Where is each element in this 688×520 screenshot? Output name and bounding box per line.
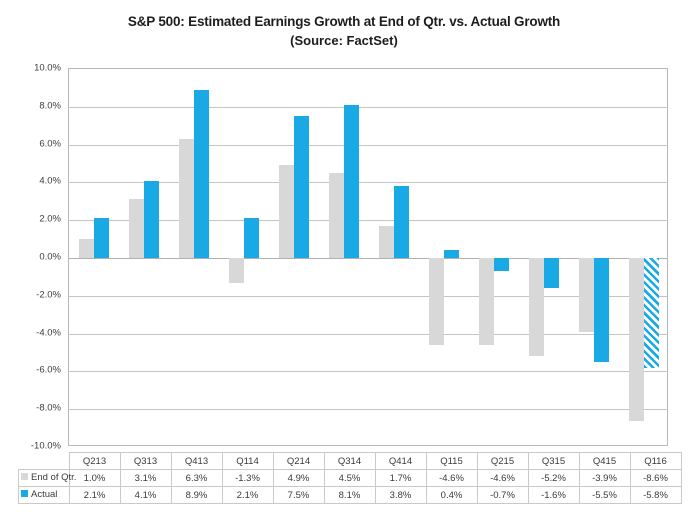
table-cell: 2.1% <box>69 487 120 504</box>
y-axis-tick-label: -2.0% <box>36 289 61 300</box>
table-body: End of Qtr.1.0%3.1%6.3%-1.3%4.9%4.5%1.7%… <box>19 470 682 504</box>
bar-cluster <box>369 69 419 445</box>
y-axis-tick-label: 0.0% <box>39 252 61 263</box>
table-corner <box>19 453 70 470</box>
table-row-header: End of Qtr. <box>19 470 70 487</box>
bar-actual-Q115 <box>444 250 459 258</box>
bar-cluster <box>569 69 619 445</box>
y-axis-tick-label: 4.0% <box>39 176 61 187</box>
bar-end-of-qtr-Q215 <box>479 258 494 345</box>
bar-end-of-qtr-Q314 <box>329 173 344 258</box>
table-cell: 8.1% <box>324 487 375 504</box>
table-category-header: Q413 <box>171 453 222 470</box>
chart-title: S&P 500: Estimated Earnings Growth at En… <box>0 14 688 29</box>
table-category-header: Q115 <box>426 453 477 470</box>
bar-actual-Q214 <box>294 116 309 258</box>
bar-end-of-qtr-Q413 <box>179 139 194 258</box>
bar-actual-Q314 <box>344 105 359 258</box>
table-cell: -1.6% <box>528 487 579 504</box>
table-category-header: Q116 <box>630 453 681 470</box>
table-category-header: Q215 <box>477 453 528 470</box>
bar-cluster <box>619 69 669 445</box>
table-cell: 0.4% <box>426 487 477 504</box>
bar-end-of-qtr-Q213 <box>79 239 94 258</box>
table-cell: -5.2% <box>528 470 579 487</box>
legend-swatch-actual <box>21 490 28 497</box>
bar-cluster <box>519 69 569 445</box>
bar-cluster <box>419 69 469 445</box>
bar-end-of-qtr-Q315 <box>529 258 544 356</box>
table-cell: 8.9% <box>171 487 222 504</box>
table-cell: -0.7% <box>477 487 528 504</box>
table-cell: -8.6% <box>630 470 681 487</box>
bar-cluster <box>269 69 319 445</box>
legend-label: Actual <box>31 489 57 500</box>
table-category-header: Q314 <box>324 453 375 470</box>
bar-actual-Q415 <box>594 258 609 362</box>
table-cell: -5.5% <box>579 487 630 504</box>
legend-label: End of Qtr. <box>31 472 76 483</box>
bar-actual-Q114 <box>244 218 259 258</box>
table-cell: -5.8% <box>630 487 681 504</box>
y-axis-tick-label: -6.0% <box>36 365 61 376</box>
table-row: End of Qtr.1.0%3.1%6.3%-1.3%4.9%4.5%1.7%… <box>19 470 682 487</box>
table-category-header: Q214 <box>273 453 324 470</box>
y-axis-tick-label: -10.0% <box>31 441 61 452</box>
bar-cluster <box>469 69 519 445</box>
bar-actual-Q313 <box>144 181 159 258</box>
y-axis-tick-label: -8.0% <box>36 403 61 414</box>
bar-cluster <box>69 69 119 445</box>
table-cell: 1.0% <box>69 470 120 487</box>
bar-actual-Q116 <box>644 258 659 368</box>
table-cell: 7.5% <box>273 487 324 504</box>
table-category-header: Q414 <box>375 453 426 470</box>
y-axis-tick-label: 6.0% <box>39 138 61 149</box>
table-cell: 6.3% <box>171 470 222 487</box>
table-cell: -3.9% <box>579 470 630 487</box>
table-category-header: Q415 <box>579 453 630 470</box>
table-cell: -1.3% <box>222 470 273 487</box>
y-axis-tick-label: 2.0% <box>39 214 61 225</box>
table-category-header: Q213 <box>69 453 120 470</box>
bar-actual-Q413 <box>194 90 209 258</box>
table-cell: 2.1% <box>222 487 273 504</box>
title-block: S&P 500: Estimated Earnings Growth at En… <box>0 0 688 48</box>
table-cell: 4.5% <box>324 470 375 487</box>
table-cell: 3.1% <box>120 470 171 487</box>
bar-cluster <box>169 69 219 445</box>
bar-end-of-qtr-Q115 <box>429 258 444 345</box>
bar-end-of-qtr-Q116 <box>629 258 644 421</box>
table-cell: 4.1% <box>120 487 171 504</box>
table-cell: -4.6% <box>477 470 528 487</box>
y-axis: 10.0%8.0%6.0%4.0%2.0%0.0%-2.0%-4.0%-6.0%… <box>0 62 68 452</box>
bar-actual-Q414 <box>394 186 409 258</box>
table-cell: 4.9% <box>273 470 324 487</box>
bar-end-of-qtr-Q414 <box>379 226 394 258</box>
table-category-header: Q313 <box>120 453 171 470</box>
bar-end-of-qtr-Q313 <box>129 199 144 258</box>
table-row-header: Actual <box>19 487 70 504</box>
table-category-header: Q315 <box>528 453 579 470</box>
y-axis-tick-label: -4.0% <box>36 327 61 338</box>
bar-cluster <box>119 69 169 445</box>
plot-area <box>68 68 668 446</box>
bar-end-of-qtr-Q214 <box>279 165 294 258</box>
table-cell: 3.8% <box>375 487 426 504</box>
table-cell: -4.6% <box>426 470 477 487</box>
bar-end-of-qtr-Q415 <box>579 258 594 332</box>
chart-subtitle: (Source: FactSet) <box>0 33 688 48</box>
bar-actual-Q215 <box>494 258 509 271</box>
bar-cluster <box>319 69 369 445</box>
table-cell: 1.7% <box>375 470 426 487</box>
table-header-row: Q213Q313Q413Q114Q214Q314Q414Q115Q215Q315… <box>19 453 682 470</box>
bar-cluster <box>219 69 269 445</box>
legend-swatch-end-of-qtr <box>21 473 28 480</box>
y-axis-tick-label: 8.0% <box>39 100 61 111</box>
y-axis-tick-label: 10.0% <box>34 63 61 74</box>
bar-actual-Q213 <box>94 218 109 258</box>
table-row: Actual2.1%4.1%8.9%2.1%7.5%8.1%3.8%0.4%-0… <box>19 487 682 504</box>
bar-end-of-qtr-Q114 <box>229 258 244 283</box>
table-category-header: Q114 <box>222 453 273 470</box>
bars-layer <box>69 69 667 445</box>
data-table: Q213Q313Q413Q114Q214Q314Q414Q115Q215Q315… <box>18 452 682 504</box>
bar-actual-Q315 <box>544 258 559 288</box>
chart-area: 10.0%8.0%6.0%4.0%2.0%0.0%-2.0%-4.0%-6.0%… <box>0 62 688 452</box>
